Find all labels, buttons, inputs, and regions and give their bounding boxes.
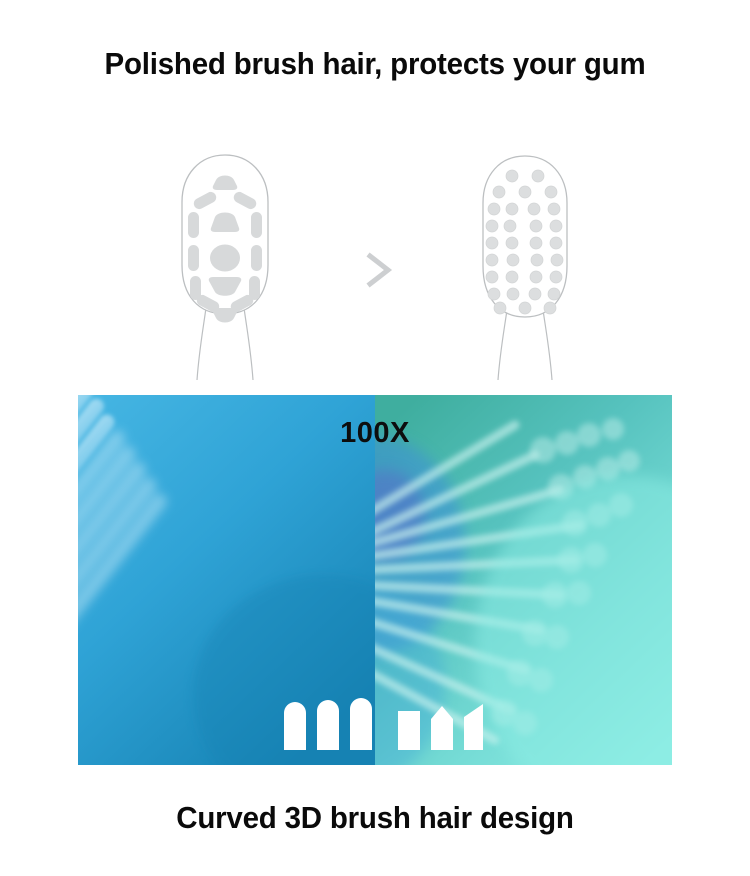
rounded-bristle-3 (350, 698, 372, 750)
comparison-separator (340, 240, 420, 300)
rounded-bristle-2 (317, 700, 339, 750)
chevron-right-icon (340, 240, 420, 300)
standard-brush-head-figure (450, 140, 600, 380)
flat-bristle (398, 711, 420, 750)
brush-head-comparison (0, 140, 750, 380)
angled-bristle (464, 704, 483, 750)
micrograph-panel: 100X (78, 395, 672, 765)
rounded-bristle-1 (284, 702, 306, 750)
polished-brush-head-icon (150, 140, 300, 380)
page-title: Polished brush hair, protects your gum (19, 46, 732, 82)
pointed-bristle (431, 706, 453, 750)
magnification-label: 100X (78, 417, 672, 450)
polished-brush-head-figure (150, 140, 300, 380)
bristle-tip-shapes-icon (276, 695, 496, 750)
standard-brush-head-icon (450, 140, 600, 380)
page-caption: Curved 3D brush hair design (19, 800, 732, 836)
bristle-tip-shapes (276, 695, 496, 750)
